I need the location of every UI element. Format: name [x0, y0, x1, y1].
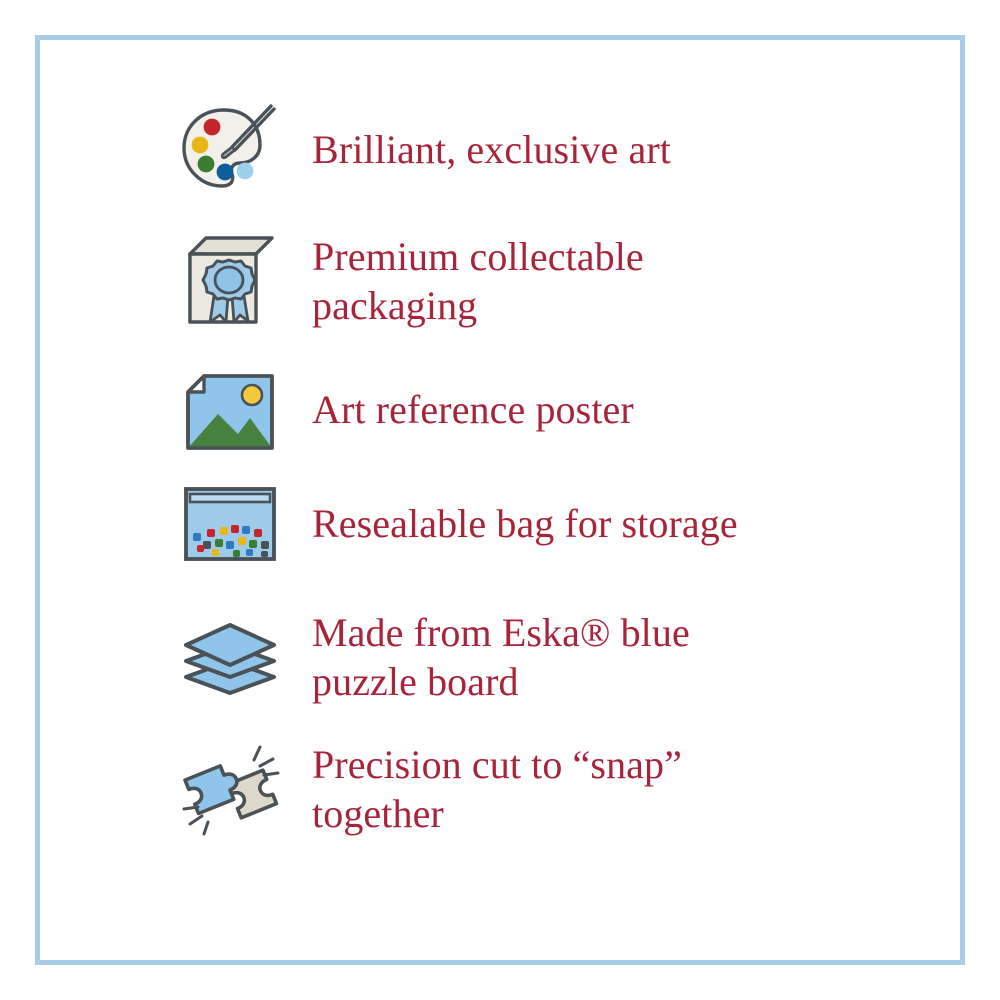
feature-label-cell: Premium collectable packaging: [290, 228, 870, 336]
feature-row: Premium collectable packaging: [170, 228, 870, 336]
feature-list: Brilliant, exclusive art: [170, 96, 870, 844]
feature-label: Precision cut to “snap” together: [312, 741, 682, 839]
feature-label-cell: Made from Eska® blue puzzle board: [290, 604, 870, 712]
feature-label-cell: Precision cut to “snap” together: [290, 736, 870, 844]
feature-label-cell: Resealable bag for storage: [290, 470, 870, 578]
stacked-layers-icon: [170, 604, 290, 712]
poster-image-icon: [170, 356, 290, 464]
resealable-bag-icon: [170, 470, 290, 578]
feature-label: Art reference poster: [312, 386, 634, 435]
feature-row: Precision cut to “snap” together: [170, 736, 870, 844]
feature-label-cell: Brilliant, exclusive art: [290, 96, 870, 204]
paint-palette-icon: [170, 96, 290, 204]
award-box-icon: [170, 228, 290, 336]
feature-label: Resealable bag for storage: [312, 500, 738, 549]
feature-row: Resealable bag for storage: [170, 470, 870, 578]
puzzle-snap-icon: [170, 736, 290, 844]
feature-row: Made from Eska® blue puzzle board: [170, 604, 870, 712]
feature-label: Made from Eska® blue puzzle board: [312, 609, 690, 707]
feature-label-cell: Art reference poster: [290, 356, 870, 464]
feature-row: Brilliant, exclusive art: [170, 96, 870, 204]
feature-list-graphic: Brilliant, exclusive art: [0, 0, 1000, 1000]
feature-row: Art reference poster: [170, 356, 870, 464]
feature-label: Premium collectable packaging: [312, 233, 644, 331]
feature-label: Brilliant, exclusive art: [312, 126, 671, 175]
